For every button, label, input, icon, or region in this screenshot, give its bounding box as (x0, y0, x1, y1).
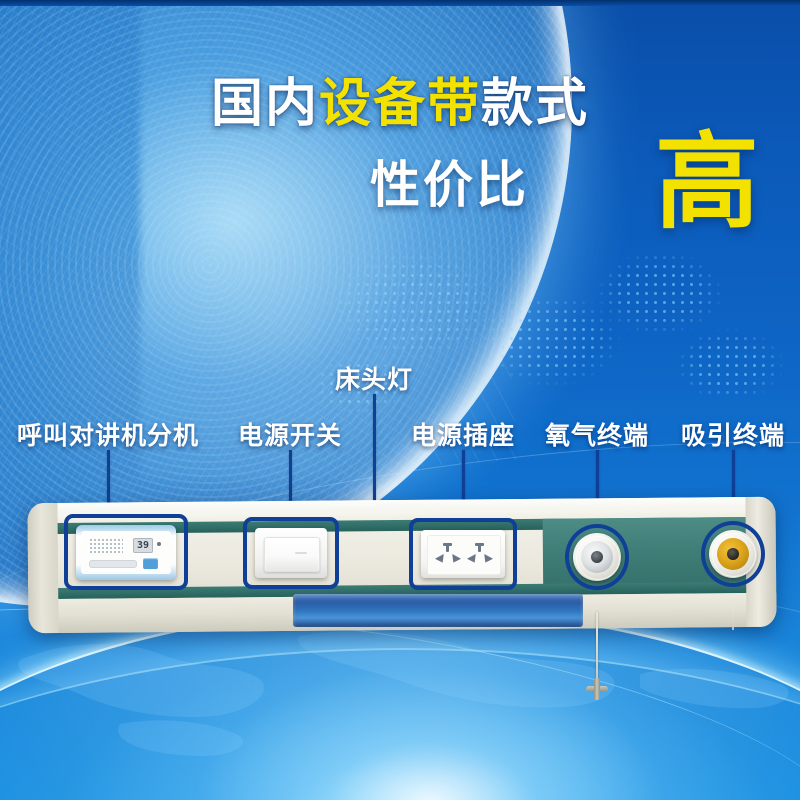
headline-text-part1: 国内 (211, 74, 319, 134)
speaker-grille-icon (89, 538, 123, 555)
suction-terminal[interactable] (709, 530, 757, 578)
intercom-display: 39 (133, 538, 153, 553)
oxygen-port (581, 541, 613, 573)
suction-core-icon (727, 548, 739, 560)
bed-light-strip[interactable] (293, 594, 583, 627)
switch-rocker[interactable] (264, 537, 320, 572)
top-edge-band (0, 0, 800, 6)
promo-banner: 国内设备带款式 性价比 高 呼叫对讲机分机电源开关床头灯电源插座氧气终端吸引终端… (0, 0, 800, 800)
switch-mark-icon (295, 552, 307, 554)
socket-outlet-icon (466, 543, 494, 567)
callout-label: 床头灯 (335, 360, 413, 396)
suction-port (717, 538, 749, 570)
intercom-call-button[interactable] (143, 558, 158, 569)
indicator-led-icon (157, 542, 161, 546)
socket-outlet-icon (434, 543, 462, 567)
pull-cord-handle[interactable] (586, 678, 608, 700)
callout-label: 呼叫对讲机分机 (17, 416, 199, 452)
pull-cord-secondary[interactable] (732, 606, 734, 630)
headline-text-part2: 款式 (481, 74, 589, 134)
headline-emphasis: 高 (655, 130, 759, 234)
headline-text-highlight: 设备带 (319, 74, 481, 134)
headline-line-2: 性价比 (370, 160, 529, 210)
callout-label: 氧气终端 (545, 416, 649, 452)
intercom-face: 39 (81, 531, 171, 574)
horizon-glow (170, 650, 690, 800)
callout-label: 电源开关 (238, 416, 342, 452)
oxygen-core-icon (591, 551, 603, 563)
callout-label: 吸引终端 (681, 416, 785, 452)
power-socket[interactable] (421, 530, 505, 578)
power-switch[interactable] (255, 528, 327, 578)
panel-end-cap-left (27, 503, 58, 633)
headline-block: 国内设备带款式 性价比 高 (0, 78, 800, 244)
callout-label: 电源插座 (411, 416, 515, 452)
intercom-slot (89, 560, 137, 568)
intercom-unit[interactable]: 39 (76, 525, 176, 580)
oxygen-terminal[interactable] (573, 533, 621, 581)
pull-cord[interactable] (596, 612, 598, 684)
socket-face (427, 535, 501, 575)
